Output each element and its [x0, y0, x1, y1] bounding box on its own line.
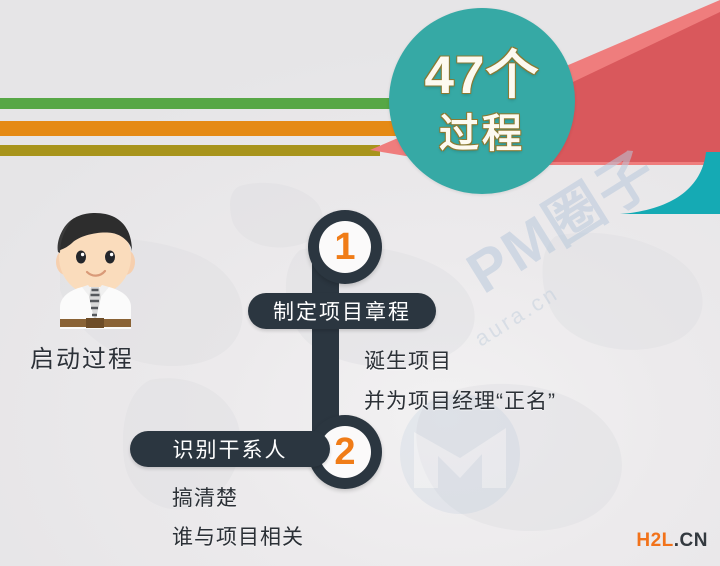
cyan-accent-shape: [620, 152, 720, 214]
corner-watermark-tld: .CN: [674, 530, 708, 551]
step-1-badge[interactable]: 1: [308, 210, 382, 284]
hero-count-subtitle: 过程: [439, 114, 525, 154]
phase-label: 启动过程: [30, 339, 134, 374]
step-2-line-1: 搞清楚: [172, 482, 238, 512]
step-1-number: 1: [334, 228, 355, 266]
green-stripe: [0, 98, 392, 109]
hero-count-number: 47个: [425, 49, 540, 102]
step-1-line-1: 诞生项目: [364, 345, 452, 375]
corner-watermark-brand: H2L: [636, 530, 673, 551]
step-1-line-2: 并为项目经理“正名”: [364, 385, 556, 415]
olive-stripe: [0, 145, 380, 156]
hero-count-circle: 47个 过程: [389, 8, 575, 194]
step-1-badge-inner: 1: [319, 221, 371, 273]
step-2-number: 2: [334, 433, 355, 471]
businessman-illustration: [28, 205, 163, 330]
infographic-canvas: 47个 过程 启动过程 1 制定项目章程 诞生项目 并为项目经理“正名” 2: [0, 0, 720, 566]
step-2-title-pill[interactable]: 识别干系人: [130, 431, 330, 467]
step-1-title-pill[interactable]: 制定项目章程: [248, 293, 436, 329]
corner-watermark: H2L.CN: [636, 530, 708, 552]
step-2-line-2: 谁与项目相关: [172, 521, 304, 551]
